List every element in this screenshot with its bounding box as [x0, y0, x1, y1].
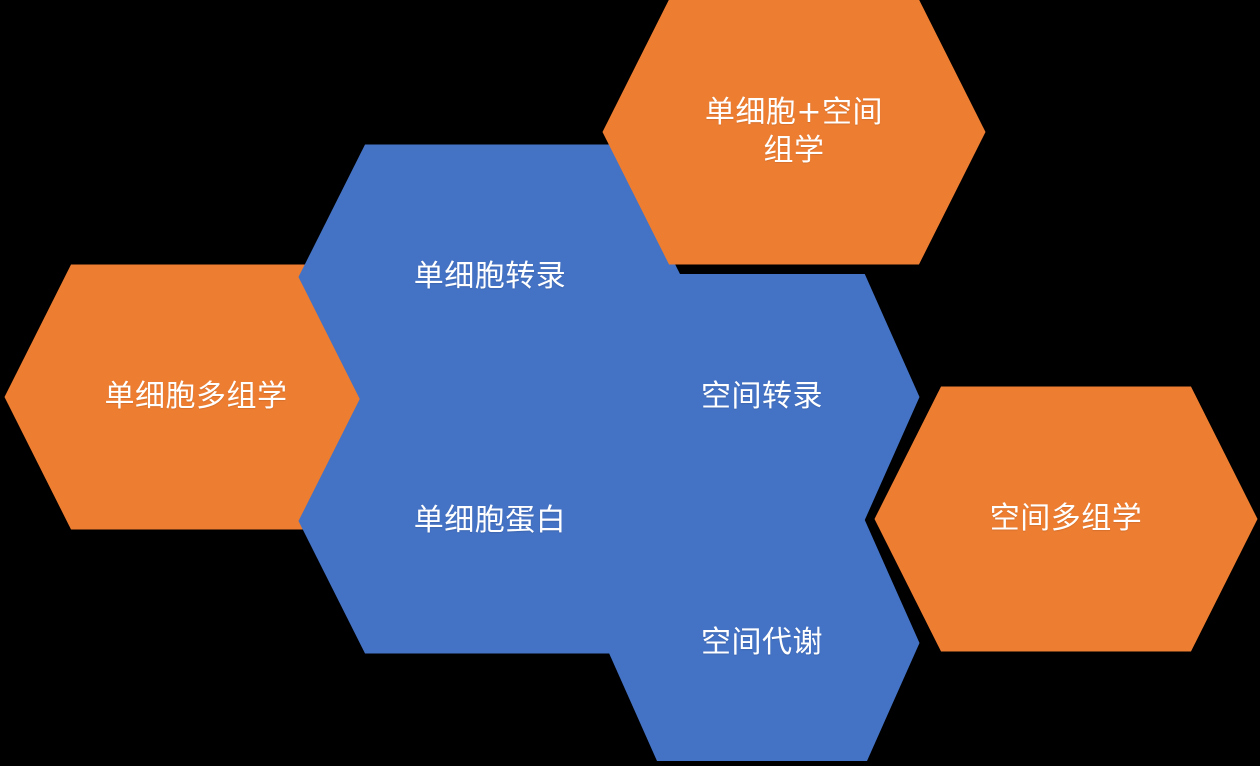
hexagon-single-cell-plus-spatial-omics[interactable] [603, 0, 986, 265]
hexagon-spatial-transcriptomics[interactable] [605, 274, 920, 520]
diagram-canvas: 单细胞多组学单细胞转录单细胞蛋白单细胞+空间 组学空间转录空间代谢空间多组学 [0, 0, 1260, 761]
hexagon-spatial-multiomics[interactable] [875, 387, 1258, 652]
hexagon-spatial-metabolomics[interactable] [605, 520, 920, 761]
hexagon-layer [0, 0, 1260, 761]
